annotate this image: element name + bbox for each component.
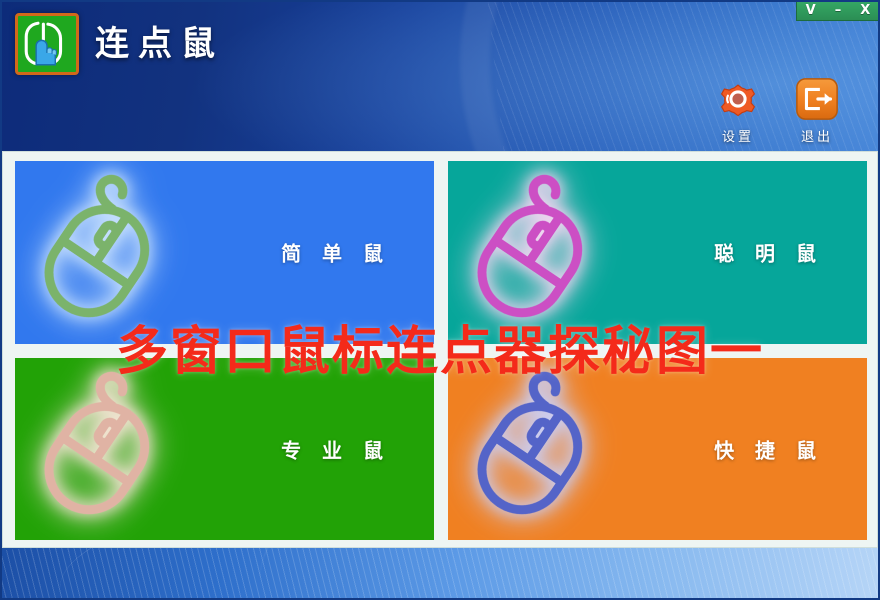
mode-tile-grid: 简 单 鼠 聪 明 鼠	[15, 161, 867, 540]
mode-tile-quick[interactable]: 快 捷 鼠	[448, 358, 867, 541]
mode-tile-label: 专 业 鼠	[281, 434, 390, 463]
mode-tile-pro[interactable]: 专 业 鼠	[15, 358, 434, 541]
minimize-button[interactable]: –	[826, 4, 850, 17]
clicker-hand-mouse-icon	[18, 16, 76, 72]
exit-button[interactable]: 退出	[784, 76, 850, 145]
mode-tile-label: 聪 明 鼠	[714, 238, 823, 267]
mode-tile-label: 简 单 鼠	[281, 238, 390, 267]
mouse-icon	[16, 358, 189, 541]
close-button[interactable]: X	[853, 4, 877, 17]
application-window: 连点鼠 设置	[0, 0, 880, 600]
window-controls: V – X	[796, 0, 880, 21]
exit-door-arrow-icon	[794, 76, 840, 122]
desktop-background-band	[0, 548, 880, 600]
settings-button[interactable]: 设置	[705, 76, 771, 145]
main-panel: 简 单 鼠 聪 明 鼠	[2, 151, 878, 548]
mode-tile-smart[interactable]: 聪 明 鼠	[448, 161, 867, 344]
band-arc-decoration-2	[60, 548, 880, 600]
mouse-icon	[16, 161, 189, 344]
mode-tile-simple[interactable]: 简 单 鼠	[15, 161, 434, 344]
exit-button-label: 退出	[784, 126, 850, 145]
mouse-icon	[449, 161, 622, 344]
page-title: 连点鼠	[95, 22, 224, 66]
minimize-to-tray-button[interactable]: V	[799, 4, 823, 17]
app-logo	[15, 13, 79, 75]
pointing-hand-icon	[36, 40, 56, 64]
app-header: 连点鼠 设置	[0, 0, 880, 151]
gear-icon	[715, 76, 761, 122]
settings-button-label: 设置	[705, 126, 771, 145]
mouse-icon	[449, 358, 622, 541]
mode-tile-label: 快 捷 鼠	[714, 434, 823, 463]
